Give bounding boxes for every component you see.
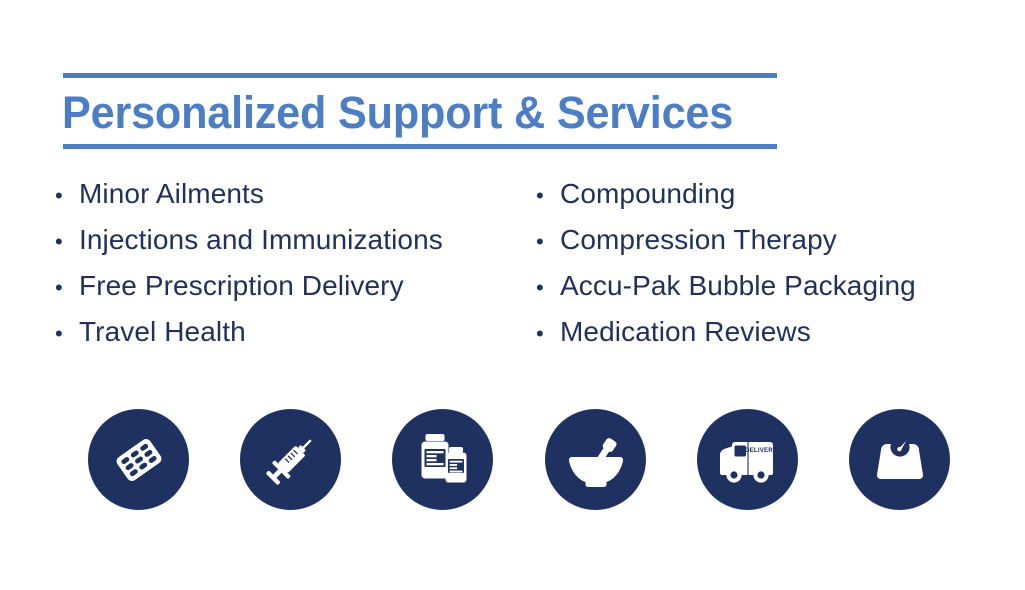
list-item: • Compounding	[536, 176, 1016, 222]
list-item: • Injections and Immunizations	[55, 222, 525, 268]
service-label-accu-pak-bubble-packaging: Accu-Pak Bubble Packaging	[560, 268, 916, 304]
icon-circle-delivery-van: DELIVERY	[697, 409, 798, 510]
service-label-injections-and-immunizations: Injections and Immunizations	[79, 222, 443, 258]
services-left-column: • Minor Ailments • Injections and Immuni…	[55, 176, 525, 360]
bullet-dot: •	[536, 178, 560, 214]
mortar-and-pestle-icon	[565, 429, 627, 491]
service-label-compounding: Compounding	[560, 176, 735, 212]
page-title: Personalized Support & Services	[62, 84, 792, 142]
pill-bottles-icon	[413, 430, 473, 490]
syringe-icon	[259, 428, 323, 492]
services-right-column: • Compounding • Compression Therapy • Ac…	[536, 176, 1016, 360]
service-icons-row: DELIVERY	[0, 409, 1025, 511]
list-item: • Accu-Pak Bubble Packaging	[536, 268, 1016, 314]
list-item: • Travel Health	[55, 314, 525, 360]
list-item: • Free Prescription Delivery	[55, 268, 525, 314]
icon-circle-weight-scale	[849, 409, 950, 510]
list-item: • Medication Reviews	[536, 314, 1016, 360]
title-top-rule	[63, 73, 777, 78]
service-label-free-prescription-delivery: Free Prescription Delivery	[79, 268, 404, 304]
bullet-dot: •	[55, 178, 79, 214]
icon-circle-syringe	[240, 409, 341, 510]
icon-circle-mortar-and-pestle	[545, 409, 646, 510]
bullet-dot: •	[55, 316, 79, 352]
delivery-van-label: DELIVERY	[745, 447, 778, 454]
icon-circle-pill-bottles	[392, 409, 493, 510]
title-bottom-rule	[63, 144, 777, 149]
bullet-dot: •	[55, 224, 79, 260]
bullet-dot: •	[536, 270, 560, 306]
service-label-travel-health: Travel Health	[79, 314, 246, 350]
blister-pack-icon	[108, 429, 170, 491]
bullet-dot: •	[55, 270, 79, 306]
service-label-medication-reviews: Medication Reviews	[560, 314, 811, 350]
slide-canvas: Personalized Support & Services • Minor …	[0, 0, 1025, 590]
list-item: • Compression Therapy	[536, 222, 1016, 268]
bullet-dot: •	[536, 316, 560, 352]
bullet-dot: •	[536, 224, 560, 260]
service-label-compression-therapy: Compression Therapy	[560, 222, 837, 258]
weight-scale-icon	[870, 430, 930, 490]
delivery-van-icon: DELIVERY	[716, 428, 780, 492]
icon-circle-blister-pack	[88, 409, 189, 510]
services-columns: • Minor Ailments • Injections and Immuni…	[0, 176, 1025, 366]
service-label-minor-ailments: Minor Ailments	[79, 176, 264, 212]
list-item: • Minor Ailments	[55, 176, 525, 222]
